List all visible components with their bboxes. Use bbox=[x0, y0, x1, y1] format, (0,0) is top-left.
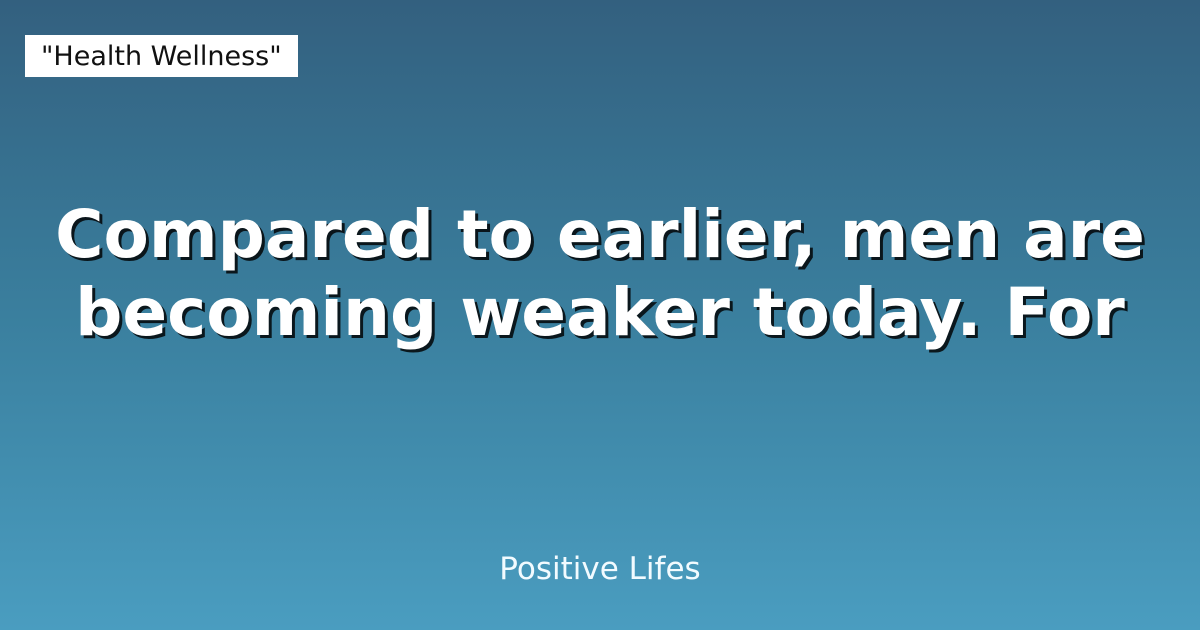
category-badge-label: "Health Wellness" bbox=[41, 43, 282, 70]
brand-name: Positive Lifes bbox=[499, 551, 700, 587]
footer-brand: Positive Lifes bbox=[0, 550, 1200, 588]
headline-line-1: Compared to earlier, men are bbox=[0, 196, 1200, 274]
headline: Compared to earlier, men are becoming we… bbox=[0, 196, 1200, 352]
headline-line-2: becoming weaker today. For bbox=[0, 274, 1200, 352]
quote-card: "Health Wellness" Compared to earlier, m… bbox=[0, 0, 1200, 630]
category-badge: "Health Wellness" bbox=[25, 35, 298, 77]
